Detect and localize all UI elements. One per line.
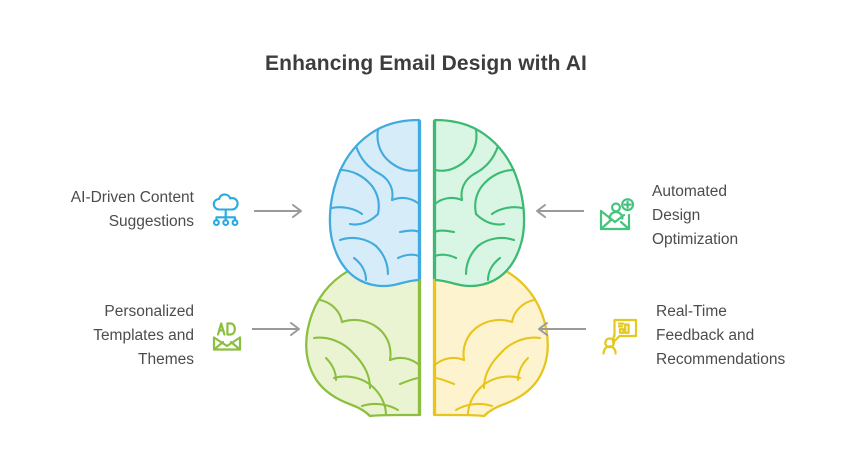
arrow-left-icon [534,321,586,342]
cloud-network-icon [206,189,248,231]
feature-label: AI-Driven Content Suggestions [71,186,194,234]
feedback-chart-bubble-icon [600,315,642,357]
feature-label: Automated Design Optimization [652,180,738,252]
feature-personalized-templates-and-themes: Personalized Templates and Themes [32,300,248,372]
arrow-right-icon [252,321,304,342]
brain-diagram [296,112,558,424]
brain-quadrant-top-right [435,120,524,286]
arrow-right-icon [254,203,306,224]
brain-quadrant-top-left [330,120,419,286]
feature-ai-driven-content-suggestions: AI-Driven Content Suggestions [32,186,248,234]
feature-label: Real-Time Feedback and Recommendations [656,300,785,372]
feature-real-time-feedback-and-recommendations: Real-Time Feedback and Recommendations [600,300,848,372]
arrow-left-icon [532,203,584,224]
feature-automated-design-optimization: Automated Design Optimization [596,180,844,252]
infographic-canvas: Enhancing Email Design with AI [0,0,852,461]
envelope-add-person-icon [596,195,638,237]
envelope-ad-icon [206,315,248,357]
page-title: Enhancing Email Design with AI [0,52,852,76]
feature-label: Personalized Templates and Themes [93,300,194,372]
